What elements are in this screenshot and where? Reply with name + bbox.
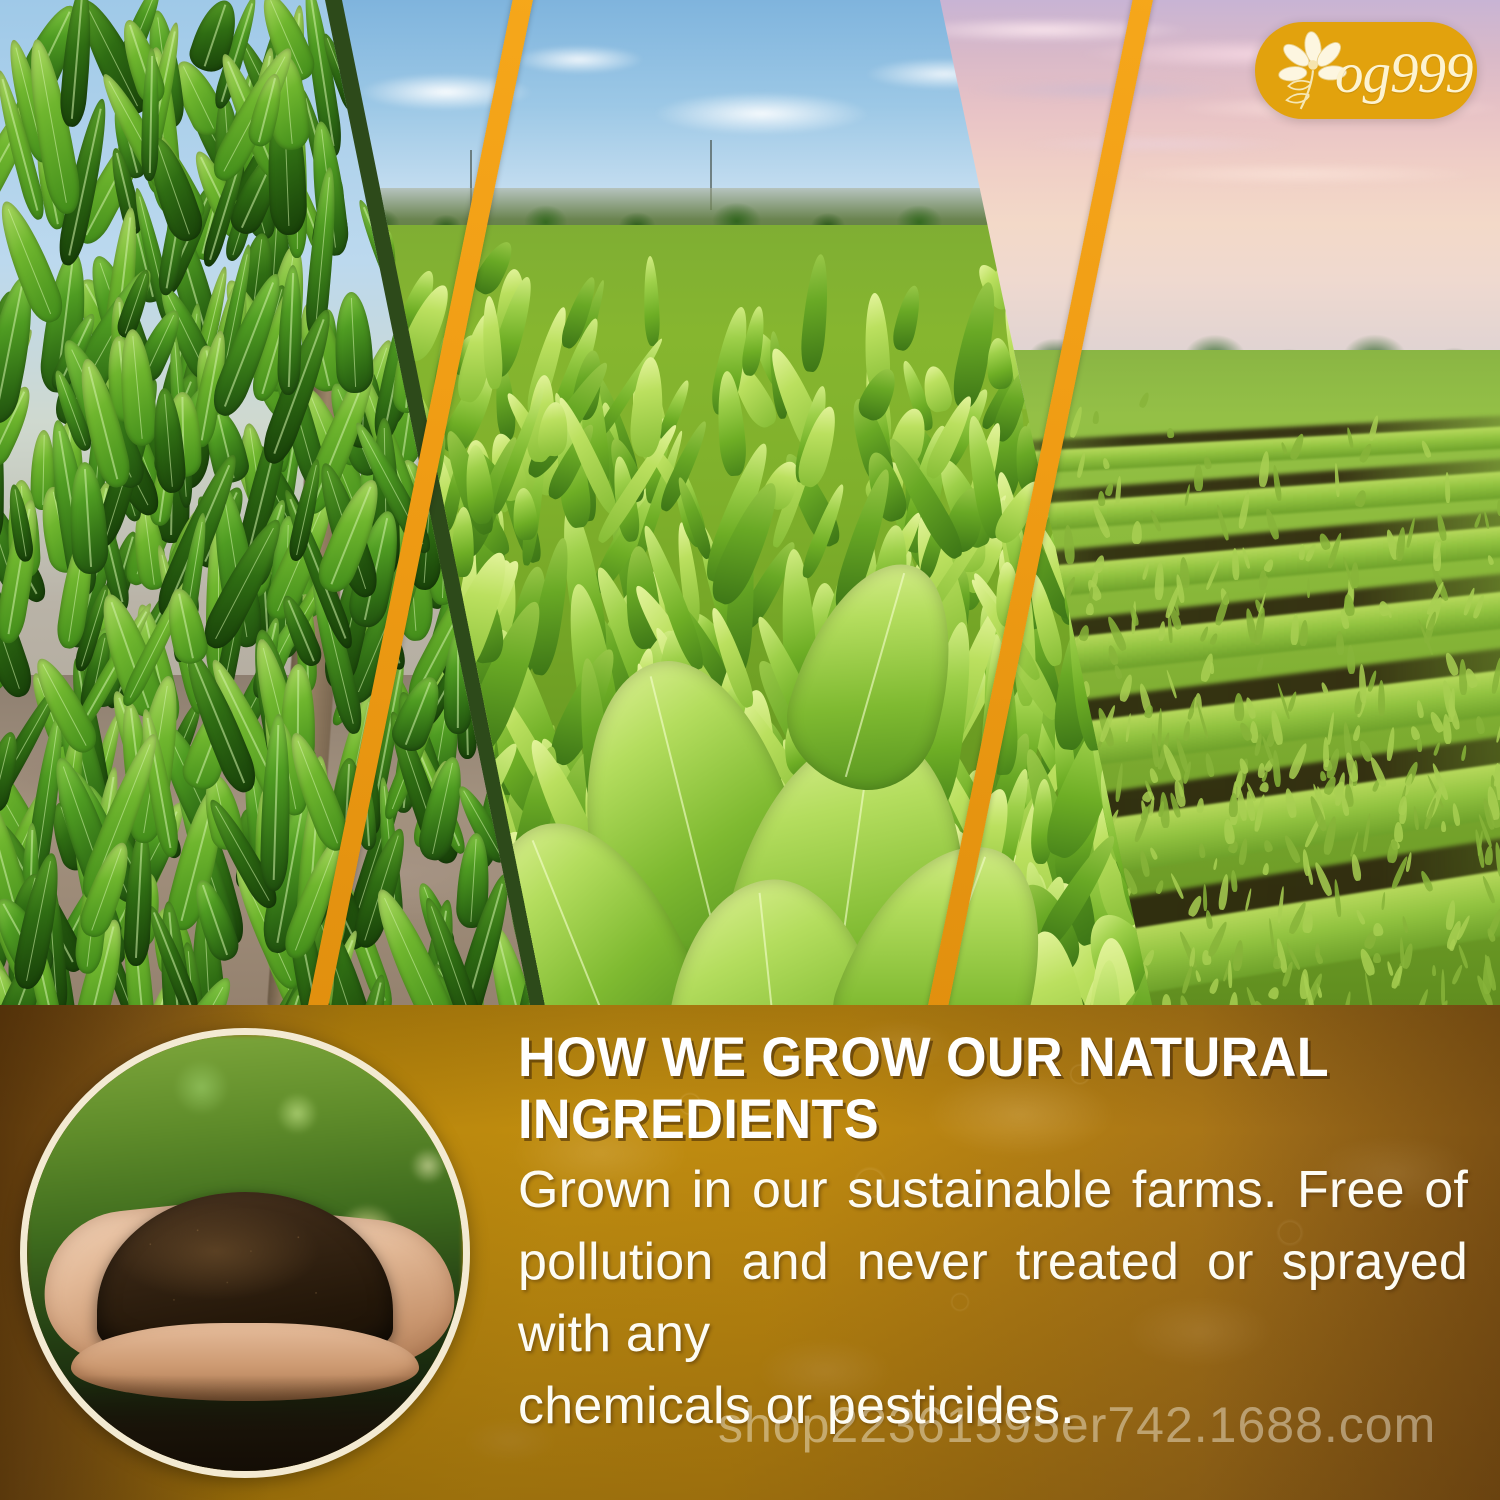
hands-holding-soil-image: [20, 1028, 470, 1478]
banner-body-last-line: chemicals or pesticides.: [518, 1370, 1468, 1442]
banner-heading: HOW WE GROW OUR NATURAL INGREDIENTS: [518, 1026, 1402, 1150]
soil-ground: [27, 1375, 463, 1471]
brand-logo-text: og999: [1335, 44, 1473, 101]
brand-logo-badge[interactable]: og999: [1255, 22, 1477, 119]
banner-body-main: Grown in our sustainable farms. Free of …: [518, 1161, 1468, 1363]
banner-body-text: Grown in our sustainable farms. Free of …: [518, 1154, 1468, 1442]
banner-text-block: HOW WE GROW OUR NATURAL INGREDIENTS Grow…: [518, 1026, 1468, 1442]
promo-graphic: og999 HOW WE GROW OUR NATURAL INGREDIENT…: [0, 0, 1500, 1500]
hero-photo-strip: [0, 0, 1500, 1005]
